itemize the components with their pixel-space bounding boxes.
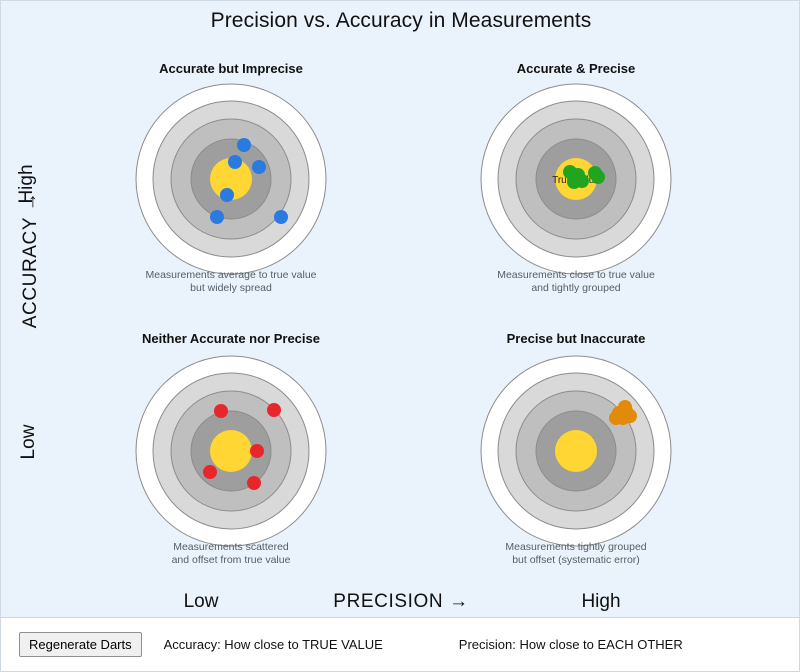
- dartboard: [135, 355, 327, 547]
- precision-accuracy-figure: Precision vs. Accuracy in Measurements A…: [0, 0, 800, 672]
- regenerate-darts-button[interactable]: Regenerate Darts: [19, 632, 142, 657]
- bullseye-true-value: [210, 430, 252, 472]
- precision-axis-title: PRECISION →: [321, 591, 481, 613]
- precision-high-label: High: [551, 591, 651, 613]
- dart-marker: [228, 155, 242, 169]
- dart-marker: [609, 411, 623, 425]
- panel-caption: Measurements close to true value and tig…: [436, 269, 716, 295]
- dart-marker: [210, 210, 224, 224]
- accuracy-high-label: High: [16, 144, 38, 224]
- quadrant-accurate-precise: Accurate & Precise True Value Measuremen…: [436, 61, 716, 296]
- dartboard-svg: [480, 355, 672, 547]
- dart-marker: [250, 444, 264, 458]
- dartboard: [480, 355, 672, 547]
- page-title: Precision vs. Accuracy in Measurements: [1, 9, 800, 33]
- quadrant-neither-accurate-nor-precise: Neither Accurate nor Precise Measurement…: [91, 331, 371, 571]
- accuracy-low-label: Low: [18, 402, 40, 482]
- panel-title: Accurate & Precise: [436, 61, 716, 76]
- dart-marker: [247, 476, 261, 490]
- panel-title: Accurate but Imprecise: [91, 61, 371, 76]
- quadrant-precise-inaccurate: Precise but Inaccurate Measurements tigh…: [436, 331, 716, 571]
- panel-title: Precise but Inaccurate: [436, 331, 716, 346]
- precision-definition-note: Precision: How close to EACH OTHER: [459, 637, 683, 652]
- dartboard-svg: True Value: [480, 83, 672, 275]
- quadrant-accurate-imprecise: Accurate but Imprecise Measurements aver…: [91, 61, 371, 296]
- dart-marker: [274, 210, 288, 224]
- footer-bar: Regenerate Darts Accuracy: How close to …: [0, 618, 800, 672]
- panel-caption: Measurements scattered and offset from t…: [91, 541, 371, 567]
- dartboard: [135, 83, 327, 275]
- precision-low-label: Low: [151, 591, 251, 613]
- panel-title: Neither Accurate nor Precise: [91, 331, 371, 346]
- dart-marker: [252, 160, 266, 174]
- dart-marker: [267, 403, 281, 417]
- dartboard-svg: [135, 355, 327, 547]
- dartboard: True Value: [480, 83, 672, 275]
- dartboard-svg: [135, 83, 327, 275]
- dart-marker: [203, 465, 217, 479]
- chart-area: Precision vs. Accuracy in Measurements A…: [0, 0, 800, 618]
- dart-marker: [220, 188, 234, 202]
- bullseye-true-value: [555, 430, 597, 472]
- panel-caption: Measurements average to true value but w…: [91, 269, 371, 295]
- dart-marker: [567, 175, 581, 189]
- dart-marker: [237, 138, 251, 152]
- accuracy-definition-note: Accuracy: How close to TRUE VALUE: [164, 637, 383, 652]
- panel-caption: Measurements tightly grouped but offset …: [436, 541, 716, 567]
- dart-marker: [214, 404, 228, 418]
- dart-marker: [618, 400, 632, 414]
- dart-marker: [591, 170, 605, 184]
